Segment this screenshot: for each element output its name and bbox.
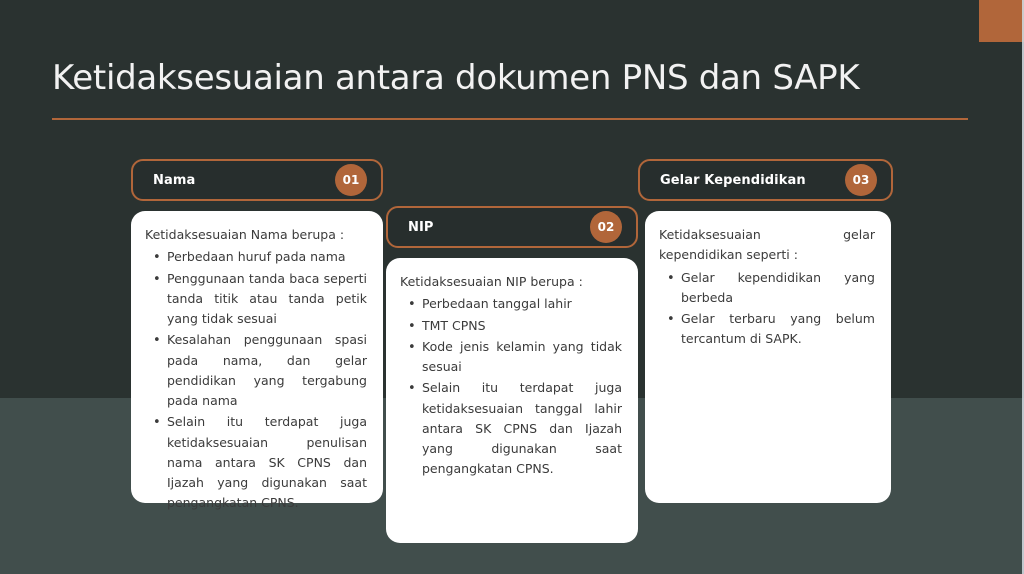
list-item: Gelar kependidikan yang berbeda [681,268,875,309]
list-item: TMT CPNS [422,316,622,336]
card-gelar-body: Ketidaksesuaian gelar kependidikan seper… [645,211,891,503]
card-gelar-header-label: Gelar Kependidikan [660,173,806,188]
card-nama-header-label: Nama [153,173,195,188]
card-nama-header[interactable]: Nama 01 [131,159,383,201]
list-item: Gelar terbaru yang belum tercantum di SA… [681,309,875,350]
card-nip-intro: Ketidaksesuaian NIP berupa : [400,272,622,292]
list-item: Kesalahan penggunaan spasi pada nama, da… [167,330,367,411]
card-nip-number-badge: 02 [590,211,622,243]
card-gelar-number-badge: 03 [845,164,877,196]
list-item: Perbedaan tanggal lahir [422,294,622,314]
card-nip-body: Ketidaksesuaian NIP berupa : Perbedaan t… [386,258,638,543]
card-nama-intro: Ketidaksesuaian Nama berupa : [145,225,367,245]
title-underline-rule [52,118,968,120]
corner-accent-rectangle [979,0,1024,42]
page-title: Ketidaksesuaian antara dokumen PNS dan S… [52,58,952,98]
slide-canvas: Ketidaksesuaian antara dokumen PNS dan S… [0,0,1024,574]
card-nip-header[interactable]: NIP 02 [386,206,638,248]
card-nama-body: Ketidaksesuaian Nama berupa : Perbedaan … [131,211,383,503]
card-gelar-bullet-list: Gelar kependidikan yang berbeda Gelar te… [659,268,875,350]
card-nama-number-badge: 01 [335,164,367,196]
list-item: Penggunaan tanda baca seperti tanda titi… [167,269,367,330]
card-nama-bullet-list: Perbedaan huruf pada nama Penggunaan tan… [145,247,367,513]
card-nip-bullet-list: Perbedaan tanggal lahir TMT CPNS Kode je… [400,294,622,479]
list-item: Kode jenis kelamin yang tidak sesuai [422,337,622,378]
list-item: Selain itu terdapat juga ketidaksesuaian… [167,412,367,513]
card-nip-header-label: NIP [408,220,434,235]
list-item: Perbedaan huruf pada nama [167,247,367,267]
list-item: Selain itu terdapat juga ketidaksesuaian… [422,378,622,479]
card-gelar-header[interactable]: Gelar Kependidikan 03 [638,159,893,201]
card-gelar-intro: Ketidaksesuaian gelar kependidikan seper… [659,225,875,266]
